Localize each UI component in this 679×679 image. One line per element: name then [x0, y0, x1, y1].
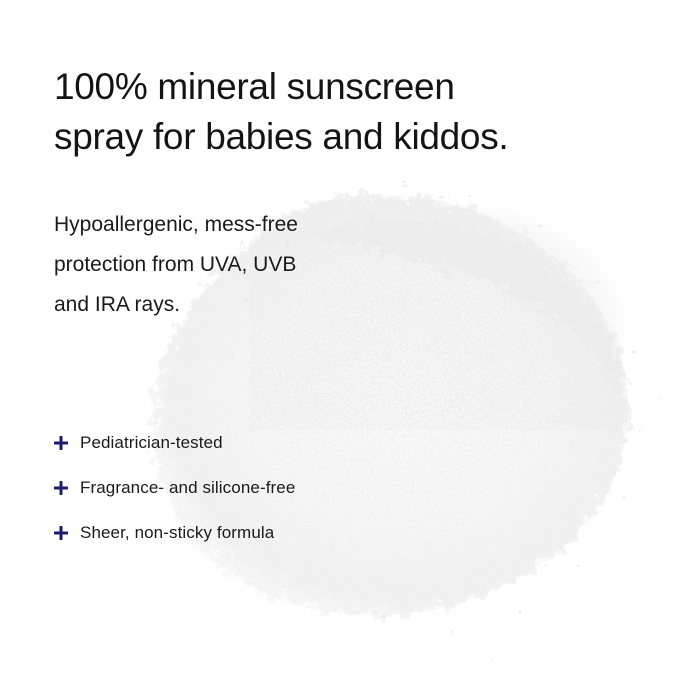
page-title: 100% mineral sunscreen spray for babies … [54, 62, 634, 162]
list-item: Pediatrician-tested [54, 420, 474, 465]
product-feature-card: 100% mineral sunscreen spray for babies … [0, 0, 679, 679]
card-content: 100% mineral sunscreen spray for babies … [0, 0, 679, 679]
plus-icon [54, 481, 68, 495]
feature-label: Pediatrician-tested [80, 433, 223, 453]
plus-icon [54, 526, 68, 540]
list-item: Sheer, non-sticky formula [54, 510, 474, 555]
feature-list: Pediatrician-tested Fragrance- and silic… [54, 420, 474, 555]
feature-label: Fragrance- and silicone-free [80, 478, 295, 498]
list-item: Fragrance- and silicone-free [54, 465, 474, 510]
feature-label: Sheer, non-sticky formula [80, 523, 274, 543]
subheadline-description: Hypoallergenic, mess-free protection fro… [54, 205, 454, 325]
plus-icon [54, 436, 68, 450]
